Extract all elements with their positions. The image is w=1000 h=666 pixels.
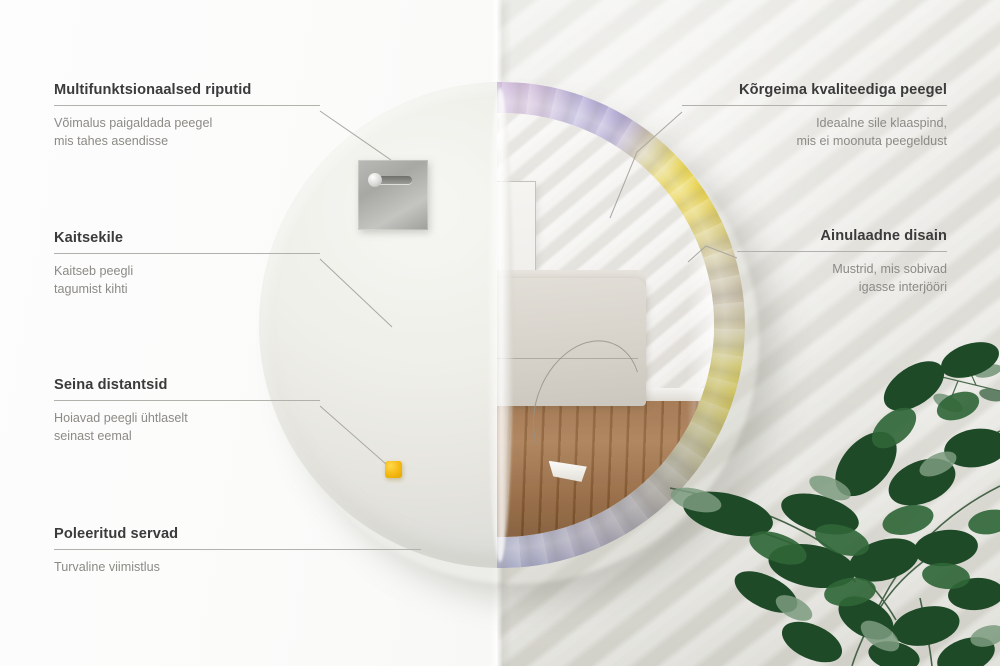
callout-rule	[682, 105, 947, 106]
callout-wall-spacers: Seina distantsid Hoiavad peegli ühtlasel…	[54, 377, 320, 445]
callout-title: Ainulaadne disain	[737, 228, 947, 244]
callout-title: Poleeritud servad	[54, 526, 421, 542]
callout-unique-design: Ainulaadne disain Mustrid, mis sobivad i…	[737, 228, 947, 296]
callout-rule	[737, 251, 947, 252]
callout-polished-edges: Poleeritud servad Turvaline viimistlus	[54, 526, 421, 577]
callout-title: Kaitsekile	[54, 230, 320, 246]
callout-title: Kõrgeima kvaliteediga peegel	[682, 82, 947, 98]
callout-description: Kaitseb peegli tagumist kihti	[54, 263, 320, 298]
foliage-plant	[670, 336, 1000, 666]
callout-description: Võimalus paigaldada peegel mis tahes ase…	[54, 115, 320, 150]
hanger-plate	[358, 160, 428, 230]
mirror-seam-highlight	[487, 88, 513, 562]
infographic-canvas: Multifunktsionaalsed riputid Võimalus pa…	[0, 0, 1000, 666]
callout-rule	[54, 400, 320, 401]
wall-spacer-pad	[385, 461, 402, 478]
callout-protective-film: Kaitsekile Kaitseb peegli tagumist kihti	[54, 230, 320, 298]
callout-rule	[54, 105, 320, 106]
callout-description: Turvaline viimistlus	[54, 559, 421, 577]
callout-highest-quality-mirror: Kõrgeima kvaliteediga peegel Ideaalne si…	[682, 82, 947, 150]
callout-description: Mustrid, mis sobivad igasse interjööri	[737, 261, 947, 296]
callout-description: Ideaalne sile klaaspind, mis ei moonuta …	[682, 115, 947, 150]
callout-description: Hoiavad peegli ühtlaselt seinast eemal	[54, 410, 320, 445]
callout-multifunctional-hangers: Multifunktsionaalsed riputid Võimalus pa…	[54, 82, 320, 150]
hanger-keyhole-slot	[370, 176, 412, 184]
callout-rule	[54, 253, 320, 254]
callout-title: Seina distantsid	[54, 377, 320, 393]
callout-rule	[54, 549, 421, 550]
callout-title: Multifunktsionaalsed riputid	[54, 82, 320, 98]
